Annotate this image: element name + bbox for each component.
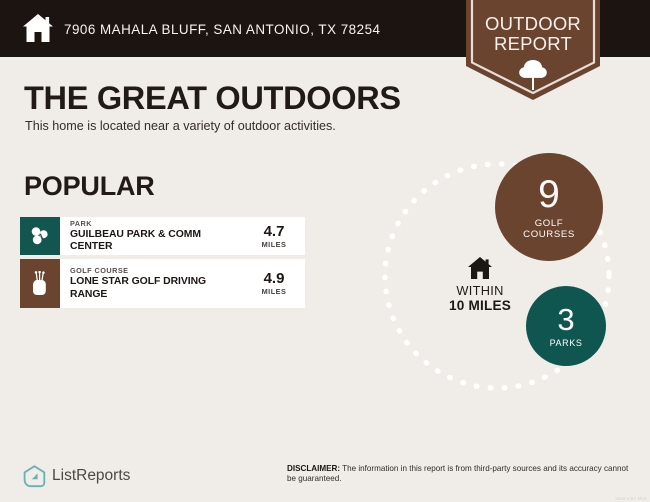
micro-credit-text: 2026 LISA MLS: [615, 496, 647, 501]
park-tree-icon: [20, 217, 60, 255]
disclaimer: DISCLAIMER: The information in this repo…: [287, 464, 635, 485]
home-icon: [22, 13, 54, 43]
list-item-category: GOLF COURSE: [70, 266, 251, 276]
list-item[interactable]: PARK GUILBEAU PARK & COMM CENTER 4.7 MIL…: [20, 217, 305, 255]
list-item[interactable]: GOLF COURSE LONE STAR GOLF DRIVING RANGE…: [20, 259, 305, 308]
outdoor-report-page: 7906 MAHALA BLUFF, SAN ANTONIO, TX 78254…: [0, 0, 650, 502]
within-distance: 10 MILES: [430, 298, 530, 314]
list-item-name: LONE STAR GOLF DRIVING RANGE: [70, 276, 245, 300]
property-address: 7906 MAHALA BLUFF, SAN ANTONIO, TX 78254: [64, 22, 380, 37]
radius-center-label: WITHIN 10 MILES: [430, 256, 530, 314]
golf-bag-icon: [20, 259, 60, 308]
list-item-category: PARK: [70, 219, 251, 229]
distance-value: 4.7: [264, 224, 285, 240]
within-label: WITHIN: [430, 283, 530, 298]
distance-unit: MILES: [262, 287, 287, 296]
list-item-distance: 4.7 MILES: [251, 217, 305, 255]
page-subtitle: This home is located near a variety of o…: [25, 119, 336, 133]
stat-parks: 3 PARKS: [526, 286, 606, 366]
stat-label: PARKS: [550, 338, 583, 349]
stat-golf-courses: 9 GOLF COURSES: [495, 153, 603, 261]
stat-count: 9: [538, 175, 560, 214]
badge-title-line2: REPORT: [466, 34, 600, 54]
list-item-distance: 4.9 MILES: [251, 259, 305, 308]
tree-icon: [518, 58, 548, 90]
popular-heading: POPULAR: [24, 171, 155, 202]
listreports-logo-text: ListReports: [52, 467, 130, 485]
page-title: THE GREAT OUTDOORS: [24, 80, 401, 117]
disclaimer-label: DISCLAIMER:: [287, 464, 340, 473]
listreports-house-tag-icon: [22, 464, 47, 489]
stat-count: 3: [557, 304, 574, 335]
stat-label: GOLF COURSES: [523, 218, 575, 240]
stat-label-line2: COURSES: [523, 229, 575, 240]
stat-label-line1: GOLF: [523, 218, 575, 229]
outdoor-report-badge: OUTDOOR REPORT: [466, 0, 600, 100]
list-item-text: PARK GUILBEAU PARK & COMM CENTER: [60, 217, 251, 255]
list-item-name: GUILBEAU PARK & COMM CENTER: [70, 229, 245, 253]
home-icon: [467, 256, 493, 280]
badge-title-line1: OUTDOOR: [466, 14, 600, 34]
list-item-text: GOLF COURSE LONE STAR GOLF DRIVING RANGE: [60, 259, 251, 308]
badge-title: OUTDOOR REPORT: [466, 14, 600, 54]
distance-value: 4.9: [264, 271, 285, 287]
distance-unit: MILES: [262, 240, 287, 249]
